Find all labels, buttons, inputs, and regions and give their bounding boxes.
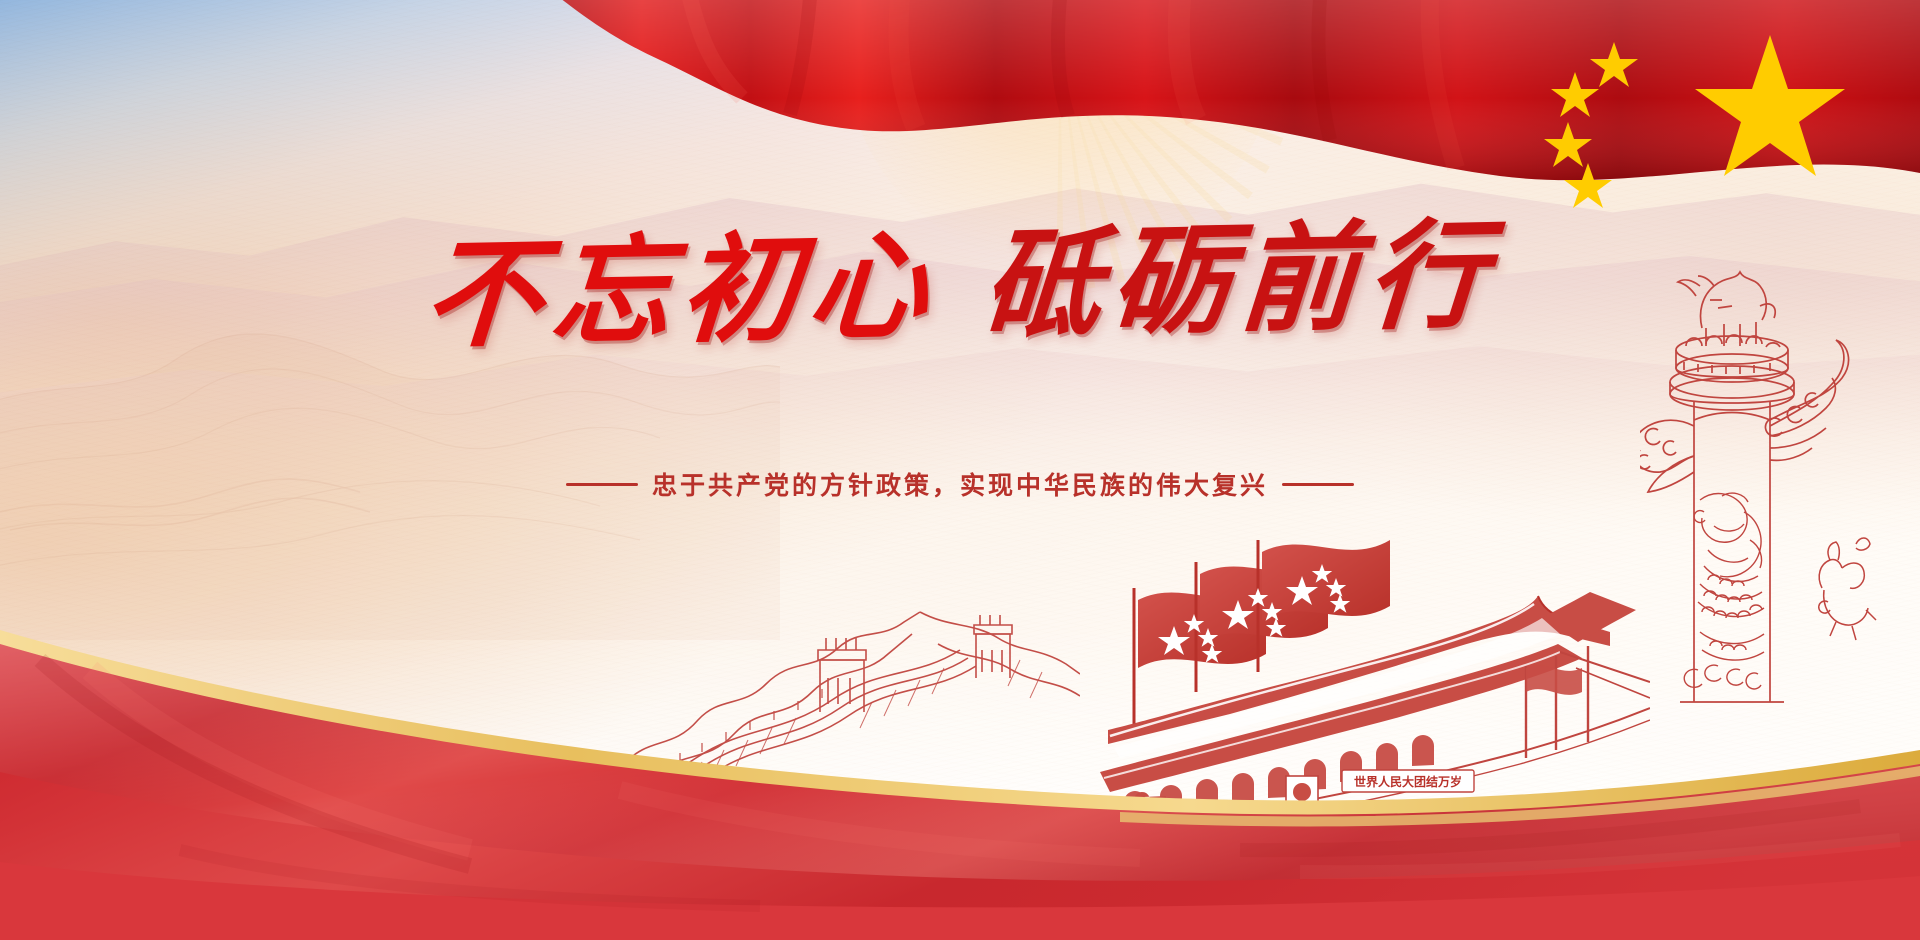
flag-star-small-group xyxy=(1544,42,1638,208)
subtitle-block: 忠于共产党的方针政策，实现中华民族的伟大复兴 xyxy=(0,466,1920,502)
subtitle-text: 忠于共产党的方针政策，实现中华民族的伟大复兴 xyxy=(652,466,1268,502)
flag-star-large xyxy=(1695,35,1845,176)
subtitle-rule-right xyxy=(1282,483,1354,486)
huabiao-cloud-disc xyxy=(1670,335,1794,410)
national-flag-stars xyxy=(1500,0,1920,210)
huabiao-beast xyxy=(1678,272,1775,346)
bottom-red-ribbon xyxy=(0,600,1920,940)
subtitle-rule-left xyxy=(566,483,638,486)
poster-subtitle: 忠于共产党的方针政策，实现中华民族的伟大复兴 xyxy=(566,466,1354,502)
huabiao-cloud-wings xyxy=(1640,340,1849,492)
poster-root: 不忘初心砥砺前行 忠于共产党的方针政策，实现中华民族的伟大复兴 xyxy=(0,0,1920,940)
